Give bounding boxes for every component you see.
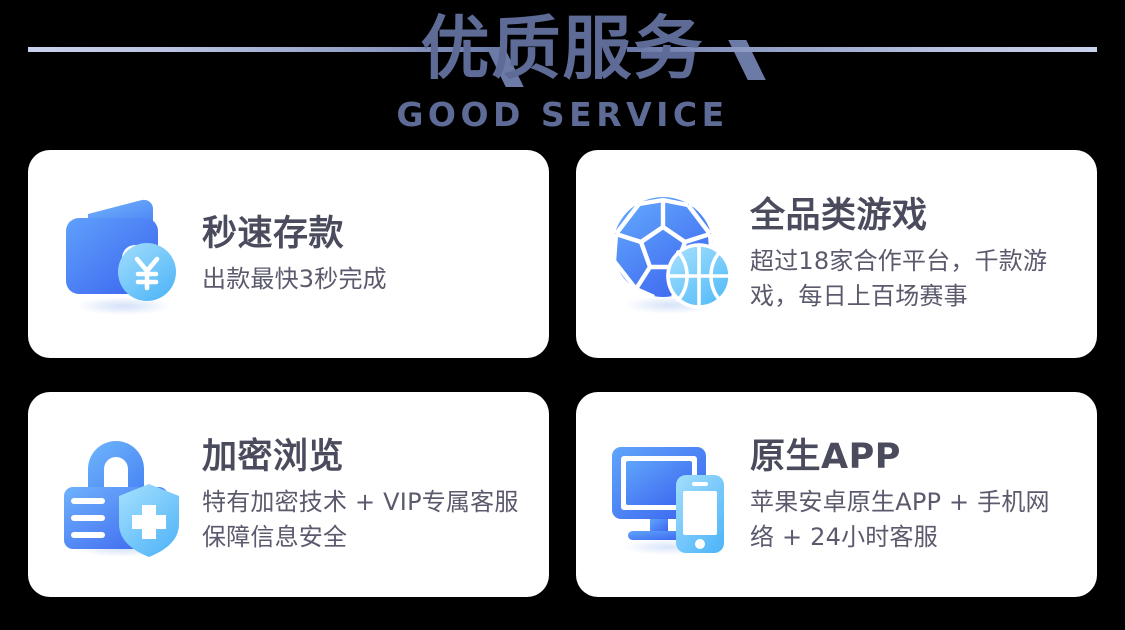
feature-card-title: 秒速存款: [202, 212, 525, 256]
feature-card-native-app[interactable]: 原生APP 苹果安卓原生APP + 手机网络 + 24小时客服: [576, 392, 1097, 597]
page-title: 优质服务: [0, 6, 1125, 92]
feature-card-grid: 秒速存款 出款最快3秒完成: [28, 150, 1097, 597]
feature-card-description: 出款最快3秒完成: [202, 262, 525, 297]
page-header: 优质服务 GOOD SERVICE: [0, 0, 1125, 150]
feature-card-text: 全品类游戏 超过18家合作平台，千款游戏，每日上百场赛事: [738, 194, 1073, 314]
soccer-basketball-icon: [606, 188, 738, 320]
feature-card-text: 加密浏览 特有加密技术 + VIP专属客服保障信息安全: [190, 435, 525, 555]
lock-shield-icon: [58, 429, 190, 561]
feature-card-title: 全品类游戏: [750, 194, 1073, 238]
page-subtitle: GOOD SERVICE: [0, 96, 1125, 134]
monitor-phone-icon: [606, 429, 738, 561]
feature-card-description: 超过18家合作平台，千款游戏，每日上百场赛事: [750, 244, 1073, 314]
feature-card-deposit[interactable]: 秒速存款 出款最快3秒完成: [28, 150, 549, 358]
feature-card-games[interactable]: 全品类游戏 超过18家合作平台，千款游戏，每日上百场赛事: [576, 150, 1097, 358]
feature-card-description: 特有加密技术 + VIP专属客服保障信息安全: [202, 485, 525, 555]
feature-card-encryption[interactable]: 加密浏览 特有加密技术 + VIP专属客服保障信息安全: [28, 392, 549, 597]
feature-card-text: 秒速存款 出款最快3秒完成: [190, 212, 525, 297]
feature-card-description: 苹果安卓原生APP + 手机网络 + 24小时客服: [750, 485, 1073, 555]
feature-card-title: 原生APP: [750, 435, 1073, 479]
feature-card-title: 加密浏览: [202, 435, 525, 479]
wallet-yen-icon: [58, 188, 190, 320]
feature-card-text: 原生APP 苹果安卓原生APP + 手机网络 + 24小时客服: [738, 435, 1073, 555]
